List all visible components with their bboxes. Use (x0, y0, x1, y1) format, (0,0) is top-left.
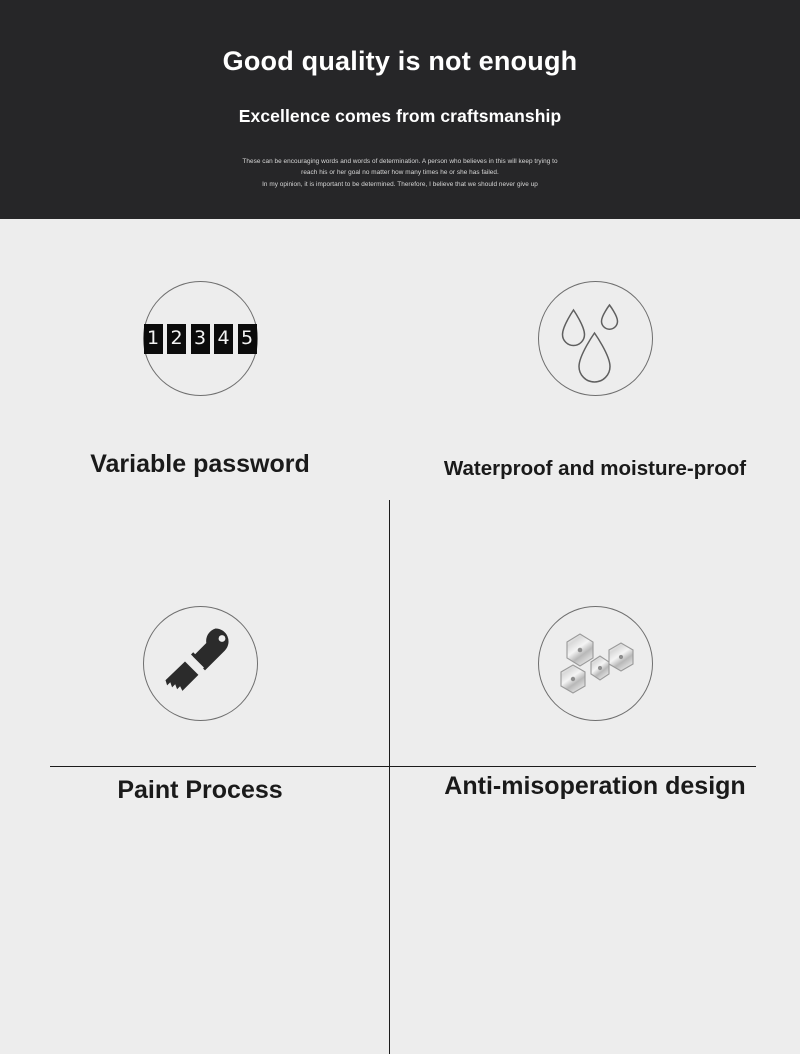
feature-item-anti-misoperation: Anti-misoperation design (400, 606, 790, 799)
dial-tiles: 1 2 3 4 5 (144, 324, 257, 354)
header-paragraph-line-2: reach his or her goal no matter how many… (140, 167, 660, 179)
paint-brush-glyph (158, 622, 242, 706)
dial-tile-2: 2 (167, 324, 186, 354)
feature-grid: 1 2 3 4 5 Variable password Waterproof a… (0, 219, 800, 849)
page-subtitle: Excellence comes from craftsmanship (239, 108, 562, 126)
water-droplets-glyph (549, 293, 641, 385)
water-droplets-icon (538, 281, 653, 396)
feature-label-paint-process: Paint Process (117, 778, 282, 803)
metal-hexagons-glyph (547, 620, 643, 708)
feature-item-waterproof: Waterproof and moisture-proof (400, 281, 790, 480)
dial-tile-5: 5 (238, 324, 257, 354)
banner-header: Good quality is not enough Excellence co… (0, 0, 800, 219)
header-paragraph-line-3: In my opinion, it is important to be det… (140, 179, 660, 191)
dial-tile-3: 3 (191, 324, 210, 354)
feature-label-anti-misoperation: Anti-misoperation design (444, 774, 745, 799)
feature-label-waterproof: Waterproof and moisture-proof (444, 459, 746, 480)
feature-label-variable-password: Variable password (90, 452, 310, 477)
header-paragraph-line-1: These can be encouraging words and words… (140, 156, 660, 168)
paint-brush-icon (143, 606, 258, 721)
combination-lock-dial-icon: 1 2 3 4 5 (143, 281, 258, 396)
dial-tile-1: 1 (144, 324, 163, 354)
dial-tile-4: 4 (214, 324, 233, 354)
feature-item-paint-process: Paint Process (5, 606, 395, 803)
header-paragraph: These can be encouraging words and words… (140, 156, 660, 191)
metal-hexagons-icon (538, 606, 653, 721)
page-title: Good quality is not enough (223, 48, 578, 75)
feature-item-variable-password: 1 2 3 4 5 Variable password (5, 281, 395, 477)
